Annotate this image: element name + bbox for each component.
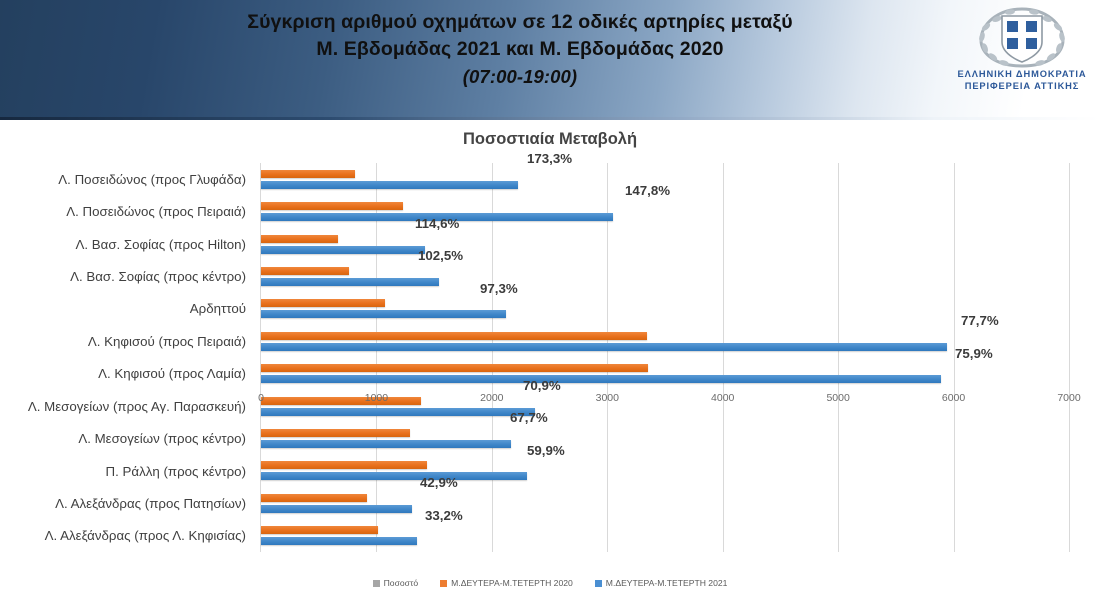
greek-republic-logo: ΕΛΛΗΝΙΚΗ ΔΗΜΟΚΡΑΤΙΑ ΠΕΡΙΦΕΡΕΙΑ ΑΤΤΙΚΗΣ	[952, 2, 1092, 114]
emblem-icon	[952, 2, 1092, 72]
legend-swatch-icon	[440, 580, 447, 587]
category-label: Λ. Αλεξάνδρας (προς Πατησίων)	[0, 487, 255, 519]
category-label: Λ. Κηφισού (προς Λαμία)	[0, 358, 255, 390]
legend-label: Ποσοστό	[384, 578, 419, 588]
logo-text-line-1: ΕΛΛΗΝΙΚΗ ΔΗΜΟΚΡΑΤΙΑ	[952, 68, 1092, 80]
bar-2020[interactable]	[261, 235, 338, 243]
chart-page: Σύγκριση αριθμού οχημάτων σε 12 οδικές α…	[0, 0, 1100, 602]
chart-row: 114,6%	[261, 228, 1069, 260]
bar-2021[interactable]	[261, 537, 417, 545]
page-title: Σύγκριση αριθμού οχημάτων σε 12 οδικές α…	[120, 9, 920, 90]
data-label-percent: 147,8%	[625, 183, 670, 198]
legend-swatch-icon	[373, 580, 380, 587]
category-label: Λ. Μεσογείων (προς κέντρο)	[0, 422, 255, 454]
legend-label: Μ.ΔΕΥΤΕΡΑ-Μ.ΤΕΤΕΡΤΗ 2020	[451, 578, 573, 588]
x-axis-tick: 1000	[365, 392, 388, 404]
data-label-percent: 77,7%	[961, 313, 999, 328]
x-axis-tick: 0	[258, 392, 264, 404]
category-label: Λ. Μεσογείων (προς Αγ. Παρασκευή)	[0, 390, 255, 422]
data-label-percent: 67,7%	[510, 410, 548, 425]
chart-row: 102,5%	[261, 260, 1069, 292]
data-label-percent: 97,3%	[480, 281, 518, 296]
bar-2020[interactable]	[261, 170, 355, 178]
legend-swatch-icon	[595, 580, 602, 587]
legend-label: Μ.ΔΕΥΤΕΡΑ-Μ.ΤΕΤΕΡΤΗ 2021	[606, 578, 728, 588]
chart-title: Ποσοστιαία Μεταβολή	[0, 130, 1100, 149]
data-label-percent: 114,6%	[415, 216, 459, 231]
data-label-percent: 102,5%	[418, 248, 463, 263]
bar-2021[interactable]	[261, 181, 518, 189]
bar-2020[interactable]	[261, 364, 648, 372]
bar-2021[interactable]	[261, 505, 412, 513]
bar-2021[interactable]	[261, 278, 439, 286]
bar-2020[interactable]	[261, 202, 403, 210]
bars-container: 173,3%147,8%114,6%102,5%97,3%77,7%75,9%7…	[261, 163, 1069, 552]
header-underline	[0, 117, 1100, 120]
bar-2021[interactable]	[261, 375, 941, 383]
category-label: Λ. Βασ. Σοφίας (προς Hilton)	[0, 228, 255, 260]
title-line-1: Σύγκριση αριθμού οχημάτων σε 12 οδικές α…	[120, 9, 920, 36]
chart-row: 75,9%	[261, 358, 1069, 390]
category-label: Λ. Αλεξάνδρας (προς Λ. Κηφισίας)	[0, 520, 255, 552]
bar-2021[interactable]	[261, 343, 947, 351]
bar-2020[interactable]	[261, 267, 349, 275]
bar-2020[interactable]	[261, 429, 410, 437]
category-axis-labels: Λ. Ποσειδώνος (προς Γλυφάδα)Λ. Ποσειδώνο…	[0, 163, 255, 552]
value-axis-ticks: 01000200030004000500060007000	[261, 392, 1071, 410]
legend-item[interactable]: Μ.ΔΕΥΤΕΡΑ-Μ.ΤΕΤΕΡΤΗ 2021	[595, 578, 728, 588]
x-axis-tick: 7000	[1057, 392, 1080, 404]
chart-row: 147,8%	[261, 195, 1069, 227]
data-label-percent: 42,9%	[420, 475, 458, 490]
bar-2020[interactable]	[261, 461, 427, 469]
bar-2020[interactable]	[261, 494, 367, 502]
logo-text: ΕΛΛΗΝΙΚΗ ΔΗΜΟΚΡΑΤΙΑ ΠΕΡΙΦΕΡΕΙΑ ΑΤΤΙΚΗΣ	[952, 68, 1092, 92]
category-label: Λ. Ποσειδώνος (προς Πειραιά)	[0, 195, 255, 227]
category-label: Λ. Ποσειδώνος (προς Γλυφάδα)	[0, 163, 255, 195]
bar-2021[interactable]	[261, 246, 425, 254]
chart-plot-area: Λ. Ποσειδώνος (προς Γλυφάδα)Λ. Ποσειδώνο…	[0, 163, 1100, 558]
chart-legend: ΠοσοστόΜ.ΔΕΥΤΕΡΑ-Μ.ΤΕΤΕΡΤΗ 2020Μ.ΔΕΥΤΕΡΑ…	[0, 578, 1100, 588]
x-axis-tick: 3000	[596, 392, 619, 404]
chart-row: 59,9%	[261, 455, 1069, 487]
bar-2020[interactable]	[261, 332, 647, 340]
chart-row: 97,3%	[261, 293, 1069, 325]
chart-row: 67,7%	[261, 422, 1069, 454]
bar-2021[interactable]	[261, 440, 511, 448]
bar-2020[interactable]	[261, 526, 378, 534]
bar-2021[interactable]	[261, 472, 527, 480]
logo-text-line-2: ΠΕΡΙΦΕΡΕΙΑ ΑΤΤΙΚΗΣ	[952, 80, 1092, 92]
legend-item[interactable]: Ποσοστό	[373, 578, 419, 588]
title-line-2: Μ. Εβδομάδας 2021 και Μ. Εβδομάδας 2020	[120, 36, 920, 63]
category-label: Π. Ράλλη (προς κέντρο)	[0, 455, 255, 487]
title-line-3: (07:00-19:00)	[120, 63, 920, 90]
legend-item[interactable]: Μ.ΔΕΥΤΕΡΑ-Μ.ΤΕΤΕΡΤΗ 2020	[440, 578, 573, 588]
category-label: Λ. Κηφισού (προς Πειραιά)	[0, 325, 255, 357]
chart-row: 33,2%	[261, 520, 1069, 552]
bar-2020[interactable]	[261, 299, 385, 307]
category-label: Λ. Βασ. Σοφίας (προς κέντρο)	[0, 260, 255, 292]
category-label: Αρδηττού	[0, 293, 255, 325]
bar-2021[interactable]	[261, 310, 506, 318]
x-axis-tick: 2000	[480, 392, 503, 404]
data-label-percent: 173,3%	[527, 151, 572, 166]
data-label-percent: 75,9%	[955, 346, 993, 361]
gridline	[1069, 163, 1070, 552]
chart-row: 77,7%	[261, 325, 1069, 357]
x-axis-tick: 4000	[711, 392, 734, 404]
x-axis-tick: 6000	[942, 392, 965, 404]
chart-row: 42,9%	[261, 487, 1069, 519]
x-axis-tick: 5000	[826, 392, 849, 404]
data-label-percent: 59,9%	[527, 443, 565, 458]
data-label-percent: 33,2%	[425, 508, 463, 523]
data-label-percent: 70,9%	[523, 378, 561, 393]
